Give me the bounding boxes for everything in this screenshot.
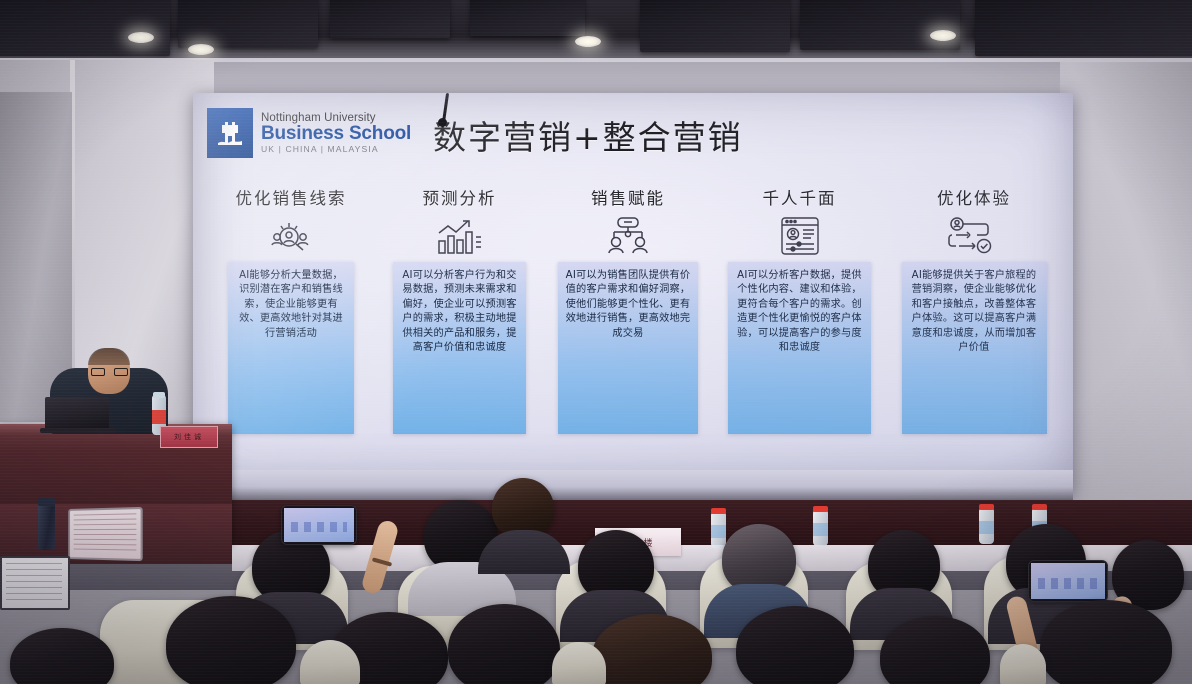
hanging-microphone-icon: [438, 118, 447, 127]
tablet-text-lines: [74, 513, 137, 554]
nottingham-business-school-logo: Nottingham University Business School UK…: [207, 108, 411, 158]
audience-head-front: [448, 604, 560, 684]
audience-head-front: [1040, 600, 1172, 684]
lecture-hall-photo: Nottingham University Business School UK…: [0, 0, 1192, 684]
customer-journey-flow-icon: [946, 214, 1002, 258]
water-bottle: [711, 512, 726, 548]
column-card: AI可以分析客户行为和交易数据，预测未来需求和偏好，使企业可以预测客户的需求，积…: [393, 262, 526, 434]
column-body-text: AI能够分析大量数据，识别潜在客户和销售线索，使企业能够更有效、更高效地针对其进…: [234, 269, 348, 341]
speaker-laptop-base: [40, 428, 116, 433]
phone-screen: [284, 508, 354, 542]
audience-head: [492, 478, 554, 538]
column-body-text: AI能够提供关于客户旅程的营销洞察，使企业能够优化和客户接触点，改善整体客户体验…: [908, 269, 1041, 356]
logo-line-3: UK | CHINA | MALAYSIA: [261, 145, 411, 154]
ceiling-panel: [975, 0, 1192, 56]
laptop-text-lines: [6, 563, 62, 602]
ceiling-panel: [470, 0, 585, 36]
column-heading: 千人千面: [763, 185, 837, 209]
column-body-text: AI可以分析客户行为和交易数据，预测未来需求和偏好，使企业可以预测客户的需求，积…: [399, 269, 520, 356]
slide-title: 数字营销+整合营销: [433, 111, 743, 159]
column-heading: 预测分析: [423, 185, 497, 209]
column-body-text: AI可以分析客户数据，提供个性化内容、建议和体验，更符合每个客户的需求。创造更个…: [734, 269, 865, 356]
slide-column-1: 优化销售线索 AI能够分析大量数据，识别潜在客户: [215, 185, 367, 455]
phone-screen: [1031, 563, 1105, 599]
projection-screen: Nottingham University Business School UK…: [193, 93, 1073, 495]
water-bottle: [813, 510, 828, 546]
column-card: AI能够提供关于客户旅程的营销洞察，使企业能够优化和客户接触点，改善整体客户体验…: [902, 262, 1047, 434]
audience-head-front: [736, 606, 854, 684]
column-card: AI能够分析大量数据，识别潜在客户和销售线索，使企业能够更有效、更高效地针对其进…: [228, 262, 354, 434]
slide-column-5: 优化体验: [895, 185, 1053, 455]
ceiling-panel: [640, 0, 790, 52]
ceiling-panel: [0, 0, 170, 56]
speaker-laptop: [45, 397, 109, 430]
thermos-cap: [38, 498, 55, 506]
ceiling-panel: [330, 0, 450, 38]
column-body-text: AI可以为销售团队提供有价值的客户需求和偏好洞察，使他们能够更个性化、更有效地进…: [564, 269, 692, 341]
slide-column-2: 预测分析 AI可以分析客户行为和交易数据，预测未来需求和偏好，使企业可以预测客户…: [384, 185, 536, 455]
ceiling-downlight: [128, 32, 154, 43]
magnifier-people-icon: [264, 214, 318, 258]
column-card: AI可以为销售团队提供有价值的客户需求和偏好洞察，使他们能够更个性化、更有效地进…: [558, 262, 698, 434]
column-heading: 销售赋能: [591, 185, 665, 209]
seat-back-front: [1000, 644, 1046, 684]
speaker-nameplate: 刘佳诚: [160, 426, 218, 448]
ceiling-panel: [178, 0, 318, 48]
ceiling-panel: [800, 0, 960, 50]
ceiling-downlight: [575, 36, 601, 47]
thermos-flask: [38, 502, 55, 550]
team-network-icon: [600, 214, 656, 258]
slide-columns: 优化销售线索 AI能够分析大量数据，识别潜在客户: [215, 185, 1053, 455]
bar-chart-trend-icon: [435, 214, 485, 258]
castle-crest-icon: [207, 108, 253, 158]
water-bottle: [979, 508, 994, 544]
logo-line-2: Business School: [261, 124, 411, 143]
audience-head-front: [166, 596, 296, 684]
document-tablet: [68, 507, 142, 561]
audience-phone: [281, 505, 357, 545]
speaker-nameplate-text: 刘佳诚: [174, 432, 204, 442]
glasses-icon: [91, 368, 128, 376]
ceiling-downlight: [188, 44, 214, 55]
column-heading: 优化体验: [937, 185, 1011, 209]
audience-phone: [1028, 560, 1108, 602]
column-heading: 优化销售线索: [236, 185, 347, 209]
slide-column-4: 千人千面: [721, 185, 879, 455]
ceiling-downlight: [930, 30, 956, 41]
user-profile-dashboard-icon: [777, 214, 823, 258]
bottle-cap: [153, 392, 165, 398]
open-laptop-screen: [0, 556, 70, 610]
column-card: AI可以分析客户数据，提供个性化内容、建议和体验，更符合每个客户的需求。创造更个…: [728, 262, 871, 434]
right-wall: [1060, 62, 1192, 532]
bottle-label: [152, 410, 166, 424]
slide-column-3: 销售赋能 AI可以为销售团队提供有价值的客户需求和偏好洞察，使他们能够更个: [552, 185, 704, 455]
